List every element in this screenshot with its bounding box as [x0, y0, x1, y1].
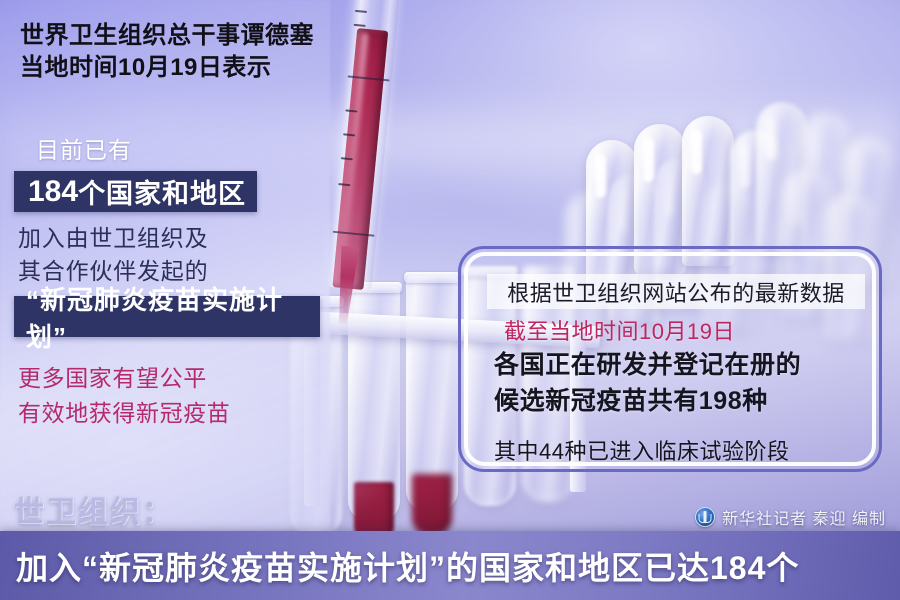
credit-line: 新华社记者 秦迎 编制 — [695, 505, 886, 529]
lead-text: 目前已有 — [36, 131, 132, 165]
info-box-date: 截至当地时间10月19日 — [504, 314, 735, 346]
info-box-source-strip: 根据世卫组织网站公布的最新数据 — [487, 274, 865, 309]
country-count-badge: 184个国家和地区 — [14, 171, 257, 212]
bottom-banner-text: 加入“新冠肺炎疫苗实施计划”的国家和地区已达184个 — [0, 543, 799, 589]
info-box: 根据世卫组织网站公布的最新数据 截至当地时间10月19日 各国正在研发并登记在册… — [458, 246, 882, 472]
info-box-main-text: 各国正在研发并登记在册的 候选新冠疫苗共有198种 — [494, 348, 801, 419]
info-box-source-text: 根据世卫组织网站公布的最新数据 — [507, 276, 845, 308]
country-count-suffix: 个国家和地区 — [78, 172, 246, 211]
left-pink-text: 更多国家有望公平 有效地获得新冠疫苗 — [18, 361, 230, 430]
content-layer: 世界卫生组织总干事谭德塞 当地时间10月19日表示 目前已有 184个国家和地区… — [0, 0, 900, 600]
covax-plan-badge: “新冠肺炎疫苗实施计划” — [14, 296, 320, 337]
bottom-banner: 加入“新冠肺炎疫苗实施计划”的国家和地区已达184个 — [0, 531, 900, 600]
xinhua-logo-icon — [695, 507, 715, 527]
headline: 世界卫生组织总干事谭德塞 当地时间10月19日表示 — [20, 20, 314, 84]
info-box-inner-border: 根据世卫组织网站公布的最新数据 截至当地时间10月19日 各国正在研发并登记在册… — [464, 252, 876, 466]
info-box-sub-text: 其中44种已进入临床试验阶段 — [494, 434, 789, 466]
country-count-number: 184 — [28, 175, 78, 209]
credit-text: 新华社记者 秦迎 编制 — [722, 505, 886, 529]
who-label: 世卫组织： — [14, 487, 174, 531]
infographic-poster: 世界卫生组织总干事谭德塞 当地时间10月19日表示 目前已有 184个国家和地区… — [0, 0, 900, 600]
